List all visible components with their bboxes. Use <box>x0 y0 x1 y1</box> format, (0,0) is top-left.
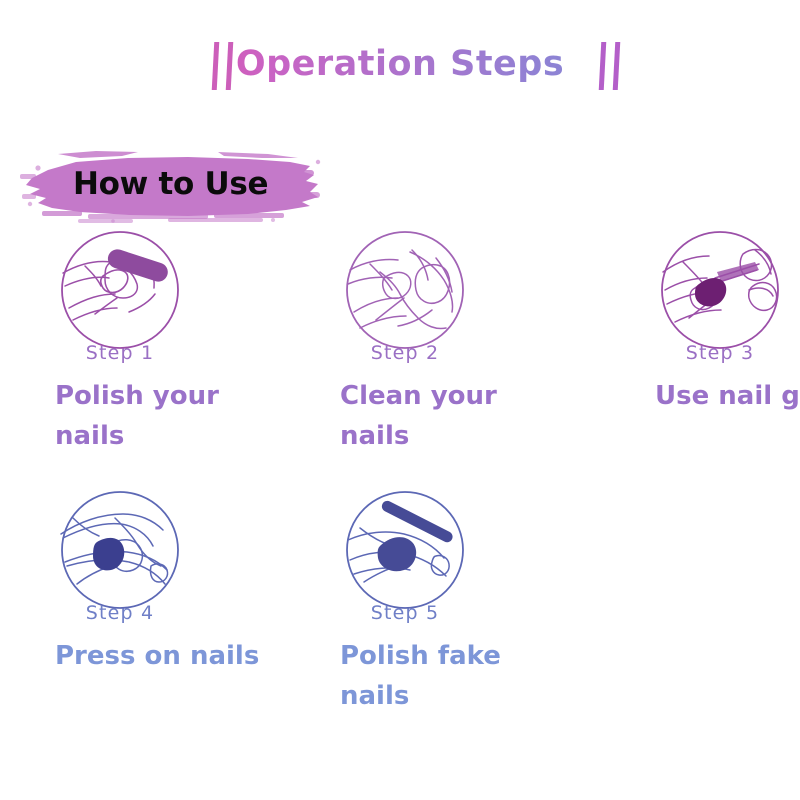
step-label-3: Step 3 <box>655 342 785 364</box>
step-label-2: Step 2 <box>340 342 470 364</box>
step-card-5: Step 5 Polish fake nails <box>340 488 570 618</box>
step-card-2: Step 2 Clean your nails <box>340 228 570 358</box>
step-caption-5: Polish fake nails <box>340 636 550 717</box>
step-card-3: Step 3 Use nail glue <box>655 228 800 358</box>
glue-brush-icon <box>655 228 785 358</box>
how-to-use-label: How to Use <box>73 166 268 202</box>
step-caption-4: Press on nails <box>55 636 265 676</box>
step-illustration-3: Step 3 <box>655 228 785 358</box>
press-fake-nail-icon <box>55 488 185 618</box>
step-illustration-4: Step 4 <box>55 488 185 618</box>
decoration-bar-icon <box>599 42 607 90</box>
step-card-1: Step 1 Polish your nails <box>55 228 285 358</box>
wipe-cleaning-nail-icon <box>340 228 470 358</box>
how-to-use-banner: How to Use <box>18 148 328 224</box>
step-illustration-5: Step 5 <box>340 488 470 618</box>
step-illustration-2: Step 2 <box>340 228 470 358</box>
step-card-4: Step 4 Press on nails <box>55 488 285 618</box>
step-caption-2: Clean your nails <box>340 376 550 457</box>
decoration-bars-right <box>600 42 619 90</box>
page-title: Operation Steps <box>0 44 800 84</box>
step-label-1: Step 1 <box>55 342 185 364</box>
step-caption-3: Use nail glue <box>655 376 800 416</box>
file-fake-nail-icon <box>340 488 470 618</box>
step-caption-1: Polish your nails <box>55 376 265 457</box>
header: Operation Steps <box>0 0 800 130</box>
step-illustration-1: Step 1 <box>55 228 185 358</box>
step-label-4: Step 4 <box>55 602 185 624</box>
nail-file-on-finger-icon <box>55 228 185 358</box>
step-label-5: Step 5 <box>340 602 470 624</box>
